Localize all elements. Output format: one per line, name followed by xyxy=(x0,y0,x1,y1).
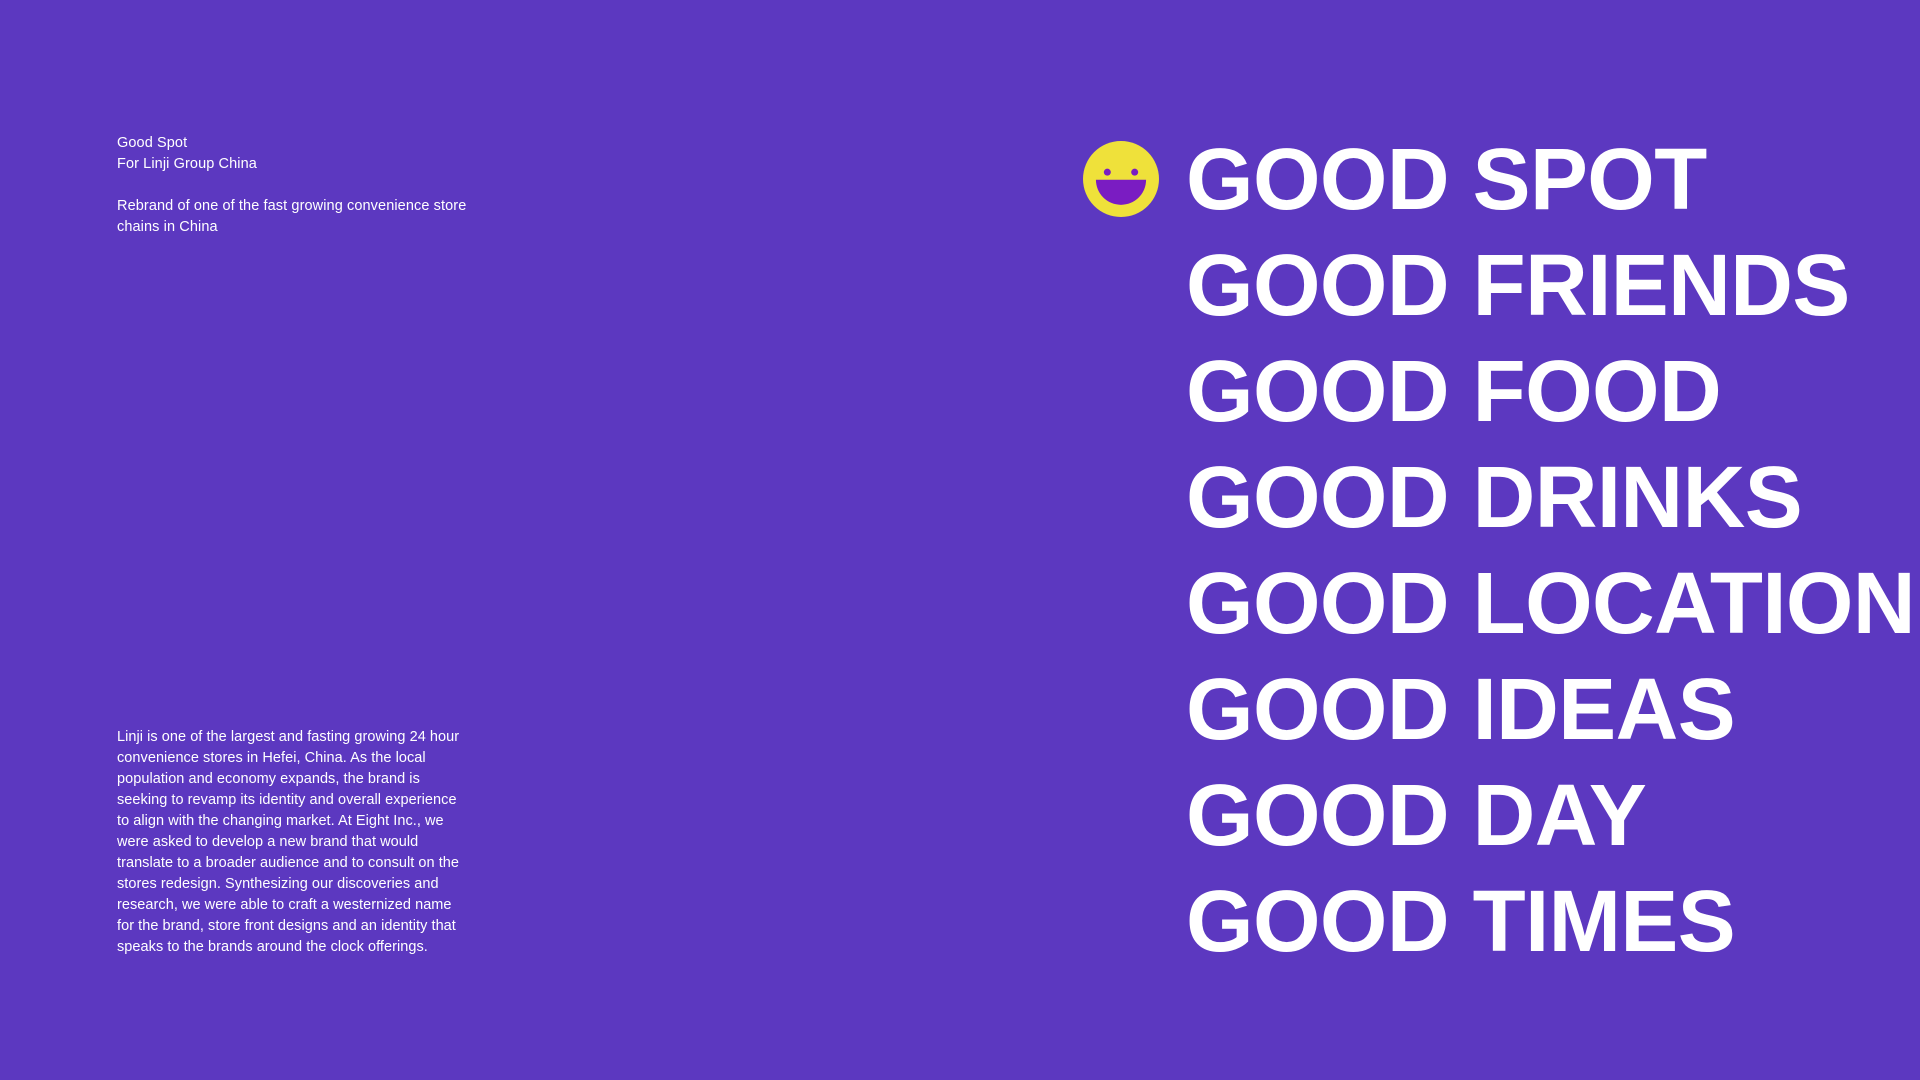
project-title: Good Spot xyxy=(117,133,537,154)
headline-line-text: GOOD LOCATION xyxy=(1186,560,1915,647)
headline-line-text: GOOD SPOT xyxy=(1186,136,1707,223)
headline-line-text: GOOD DAY xyxy=(1186,772,1646,859)
project-body-copy: Linji is one of the largest and fasting … xyxy=(117,727,461,958)
project-client: For Linji Group China xyxy=(117,154,537,175)
headline-row: GOOD FOOD xyxy=(1083,338,1883,444)
headline-line-text: GOOD FRIENDS xyxy=(1186,242,1850,329)
brand-logo xyxy=(1083,141,1159,217)
headline-line-text: GOOD FOOD xyxy=(1186,348,1721,435)
headline-row: GOOD TIMES xyxy=(1083,868,1883,974)
headline-row: GOOD DAY xyxy=(1083,762,1883,868)
headline-list: GOOD SPOTGOOD FRIENDSGOOD FOODGOOD DRINK… xyxy=(1083,126,1883,974)
headline-line-text: GOOD IDEAS xyxy=(1186,666,1735,753)
headline-row: GOOD FRIENDS xyxy=(1083,232,1883,338)
meta-spacer xyxy=(117,175,537,196)
headline-row: GOOD IDEAS xyxy=(1083,656,1883,762)
left-info-column: Good Spot For Linji Group China Rebrand … xyxy=(117,0,537,1080)
headline-row: GOOD LOCATION xyxy=(1083,550,1883,656)
presentation-slide: Good Spot For Linji Group China Rebrand … xyxy=(0,0,1920,1080)
project-meta-block: Good Spot For Linji Group China Rebrand … xyxy=(117,133,537,238)
project-description: Rebrand of one of the fast growing conve… xyxy=(117,196,497,238)
headline-row: GOOD DRINKS xyxy=(1083,444,1883,550)
smiley-face-icon xyxy=(1083,141,1159,217)
headline-row: GOOD SPOT xyxy=(1083,126,1883,232)
headline-line-text: GOOD TIMES xyxy=(1186,878,1735,965)
headline-line-text: GOOD DRINKS xyxy=(1186,454,1802,541)
